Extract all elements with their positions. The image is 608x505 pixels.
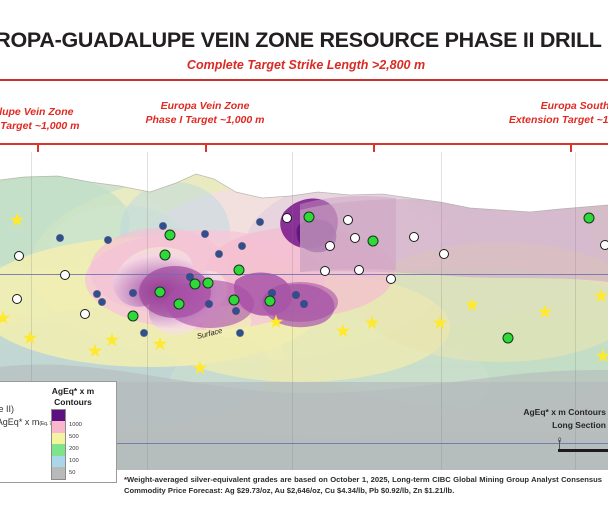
drill-marker-intercept[interactable] [354, 265, 364, 275]
colorbar-title: AgEq* x m Contours [33, 386, 113, 408]
page-subtitle: Complete Target Strike Length >2,800 m [0, 58, 608, 72]
drill-marker-intercept[interactable] [350, 233, 360, 243]
colorbar-segment-100 [52, 444, 65, 455]
colorbar-tick-100: 100 [69, 458, 79, 464]
zone-label-europa-south-line2: Extension Target ~1,200 m [509, 114, 608, 126]
strike-axis-bar [0, 143, 608, 145]
colorbar-title-line1: AgEq* x m [52, 386, 95, 396]
drill-marker-historic[interactable] [206, 301, 213, 308]
gridline-2 [147, 152, 148, 470]
drill-marker-high-grade-intercept[interactable] [234, 265, 245, 276]
colorbar-tick-500: 500 [69, 434, 79, 440]
drill-marker-high-grade-intercept[interactable] [160, 250, 171, 261]
drill-marker-intercept[interactable] [343, 215, 353, 225]
drill-marker-historic[interactable] [202, 231, 209, 238]
drill-marker-high-grade-intercept[interactable] [174, 299, 185, 310]
drill-marker-high-grade-intercept[interactable] [503, 333, 514, 344]
legend-box: Proposed Drill Hole (Phase II) Drill Hol… [0, 381, 117, 483]
drill-marker-intercept[interactable] [600, 240, 608, 250]
long-section-figure: EUROPA-GUADALUPE VEIN ZONE RESOURCE PHAS… [0, 0, 608, 505]
zone-label-guadalupe-line1: Guadalupe Vein Zone [0, 106, 73, 118]
scale-bar [558, 449, 608, 452]
colorbar-tick-200: 200 [69, 446, 79, 452]
colorbar-title-line2: Contours [54, 397, 92, 407]
drill-marker-historic[interactable] [160, 223, 167, 230]
legend-item-high-grade-label: Drill Hole Intercept (>250 AgEq* x m [0, 417, 39, 427]
zone-label-europa-line2: Phase I Target ~1,000 m [146, 114, 265, 126]
drill-marker-historic[interactable] [239, 243, 246, 250]
axis-tick-3 [373, 145, 375, 152]
drill-marker-high-grade-intercept[interactable] [155, 287, 166, 298]
drill-marker-intercept[interactable] [12, 294, 22, 304]
colorbar-segment-50 [52, 456, 65, 467]
drill-marker-high-grade-intercept[interactable] [265, 296, 276, 307]
drill-marker-intercept[interactable] [386, 274, 396, 284]
drill-marker-historic[interactable] [301, 301, 308, 308]
footnote-text: *Weight-averaged silver-equivalent grade… [124, 474, 602, 496]
zone-label-europa-south-line1: Europa South [541, 100, 608, 112]
axis-tick-4 [570, 145, 572, 152]
colorbar-segment-1000 [52, 410, 65, 421]
axis-tick-1 [37, 145, 39, 152]
drill-marker-historic[interactable] [233, 308, 240, 315]
drill-marker-historic[interactable] [257, 219, 264, 226]
drill-marker-high-grade-intercept[interactable] [368, 236, 379, 247]
drill-marker-intercept[interactable] [409, 232, 419, 242]
legend-item-proposed: Proposed Drill Hole (Phase II) [0, 404, 14, 414]
drill-marker-high-grade-intercept[interactable] [584, 213, 595, 224]
drill-marker-intercept[interactable] [60, 270, 70, 280]
zone-label-europa-line1: Europa Vein Zone [161, 100, 250, 112]
section-label-contours: AgEq* x m Contours [366, 406, 606, 419]
colorbar-tick-50: 50 [69, 470, 75, 476]
drill-marker-high-grade-intercept[interactable] [128, 311, 139, 322]
axis-tick-2 [205, 145, 207, 152]
gridline-3 [292, 152, 293, 470]
drill-marker-historic[interactable] [216, 251, 223, 258]
drill-marker-intercept[interactable] [14, 251, 24, 261]
drill-marker-high-grade-intercept[interactable] [229, 295, 240, 306]
drill-marker-high-grade-intercept[interactable] [165, 230, 176, 241]
page-title: EUROPA-GUADALUPE VEIN ZONE RESOURCE PHAS… [0, 28, 608, 53]
elevation-datum-line-upper [0, 274, 608, 275]
drill-marker-high-grade-intercept[interactable] [304, 212, 315, 223]
drill-marker-historic[interactable] [237, 330, 244, 337]
colorbar-segment-base [52, 467, 65, 479]
drill-marker-historic[interactable] [130, 290, 137, 297]
drill-marker-historic[interactable] [141, 330, 148, 337]
drill-marker-intercept[interactable] [80, 309, 90, 319]
zone-label-europa: Europa Vein Zone Phase I Target ~1,000 m [105, 99, 305, 127]
colorbar-tick-1000: 1000 [69, 422, 82, 428]
zone-label-europa-south: Europa South Extension Target ~1,200 m [450, 99, 608, 127]
drill-marker-high-grade-intercept[interactable] [203, 278, 214, 289]
colorbar-segment-500 [52, 421, 65, 432]
drill-marker-intercept[interactable] [282, 213, 292, 223]
drill-marker-historic[interactable] [94, 291, 101, 298]
drill-marker-historic[interactable] [99, 299, 106, 306]
colorbar-segment-200 [52, 433, 65, 444]
drill-marker-historic[interactable] [293, 292, 300, 299]
drill-marker-high-grade-intercept[interactable] [190, 279, 201, 290]
drill-marker-intercept[interactable] [439, 249, 449, 259]
section-label-long-section: Long Section [366, 419, 606, 432]
drill-marker-intercept[interactable] [320, 266, 330, 276]
colorbar [51, 409, 66, 480]
drill-marker-historic[interactable] [105, 237, 112, 244]
header-divider [0, 79, 608, 81]
zone-label-guadalupe-line2: Phase I Target ~1,000 m [0, 120, 79, 132]
drill-marker-intercept[interactable] [325, 241, 335, 251]
drill-marker-historic[interactable] [57, 235, 64, 242]
